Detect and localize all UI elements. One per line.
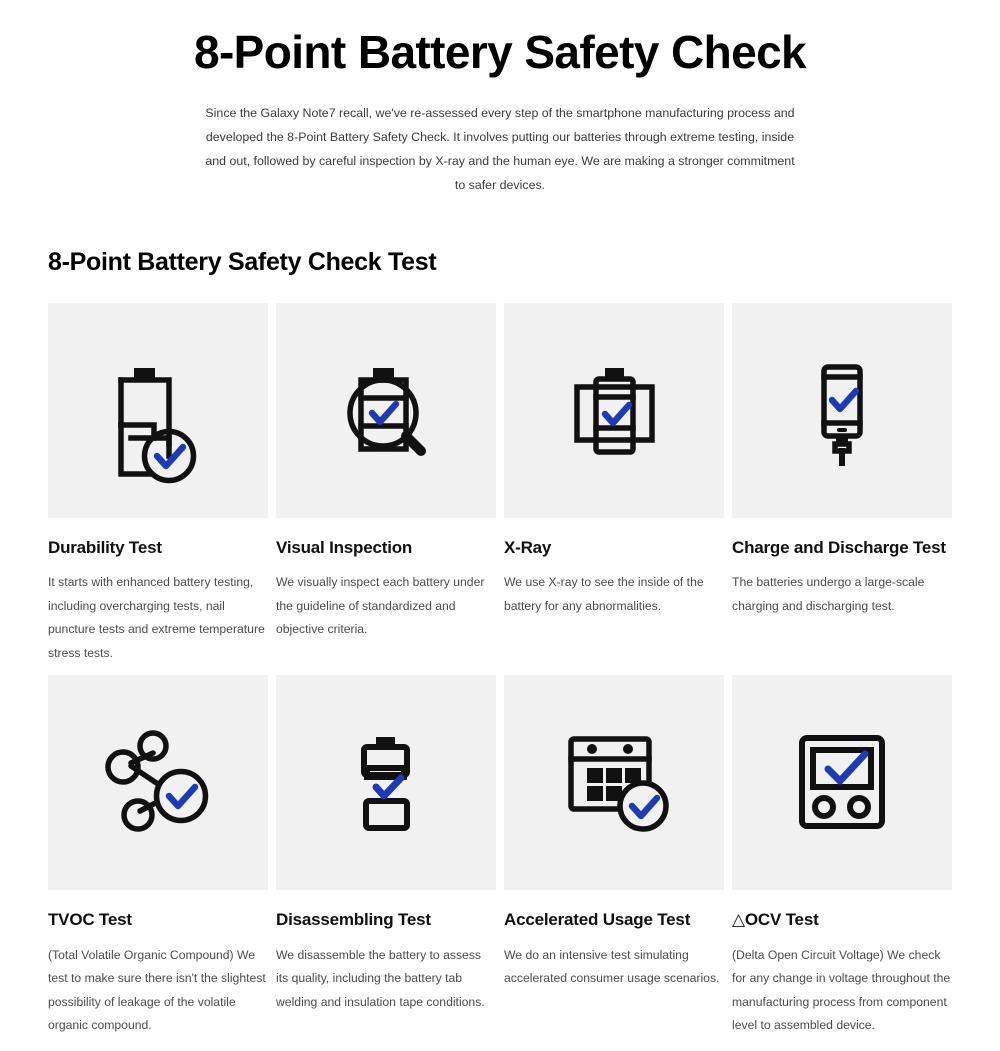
test-card-title: Charge and Discharge Test — [732, 537, 952, 559]
battery-disassembled-check-icon — [276, 675, 496, 890]
hero-section: 8-Point Battery Safety Check Since the G… — [0, 0, 1000, 198]
section-heading: 8-Point Battery Safety Check Test — [48, 248, 1000, 277]
test-card-description: We use X-ray to see the inside of the ba… — [504, 571, 724, 618]
test-card-grid: Durability Test It starts with enhanced … — [48, 303, 954, 1038]
battery-safety-check-page: 8-Point Battery Safety Check Since the G… — [0, 0, 1000, 1051]
test-card-description: (Delta Open Circuit Voltage) We check fo… — [732, 944, 952, 1038]
test-card-description: We do an intensive test simulating accel… — [504, 944, 724, 991]
test-card-description: The batteries undergo a large-scale char… — [732, 571, 952, 618]
hero-paragraph: Since the Galaxy Note7 recall, we've re-… — [200, 101, 800, 198]
test-card: △OCV Test (Delta Open Circuit Voltage) W… — [732, 675, 952, 1037]
voltmeter-check-icon — [732, 675, 952, 890]
test-card-title: Accelerated Usage Test — [504, 909, 724, 931]
page-title: 8-Point Battery Safety Check — [0, 26, 1000, 79]
test-card-title: △OCV Test — [732, 909, 952, 931]
test-card-description: It starts with enhanced battery testing,… — [48, 571, 268, 665]
test-card-description: We disassemble the battery to assess its… — [276, 944, 496, 1014]
test-card: X-Ray We use X-ray to see the inside of … — [504, 303, 724, 665]
test-card-title: Visual Inspection — [276, 537, 496, 559]
test-card-description: (Total Volatile Organic Compound) We tes… — [48, 944, 268, 1038]
test-card-description: We visually inspect each battery under t… — [276, 571, 496, 641]
test-card: Accelerated Usage Test We do an intensiv… — [504, 675, 724, 1037]
battery-crack-check-icon — [48, 303, 268, 518]
phone-charging-check-icon — [732, 303, 952, 518]
test-card-title: Disassembling Test — [276, 909, 496, 931]
molecule-check-icon — [48, 675, 268, 890]
test-card-title: Durability Test — [48, 537, 268, 559]
battery-xray-scan-check-icon — [504, 303, 724, 518]
test-card: Durability Test It starts with enhanced … — [48, 303, 268, 665]
test-card-title: TVOC Test — [48, 909, 268, 931]
test-card-title: X-Ray — [504, 537, 724, 559]
calendar-check-icon — [504, 675, 724, 890]
test-card: TVOC Test (Total Volatile Organic Compou… — [48, 675, 268, 1037]
test-card: Disassembling Test We disassemble the ba… — [276, 675, 496, 1037]
battery-magnifier-check-icon — [276, 303, 496, 518]
test-card: Charge and Discharge Test The batteries … — [732, 303, 952, 665]
test-card: Visual Inspection We visually inspect ea… — [276, 303, 496, 665]
